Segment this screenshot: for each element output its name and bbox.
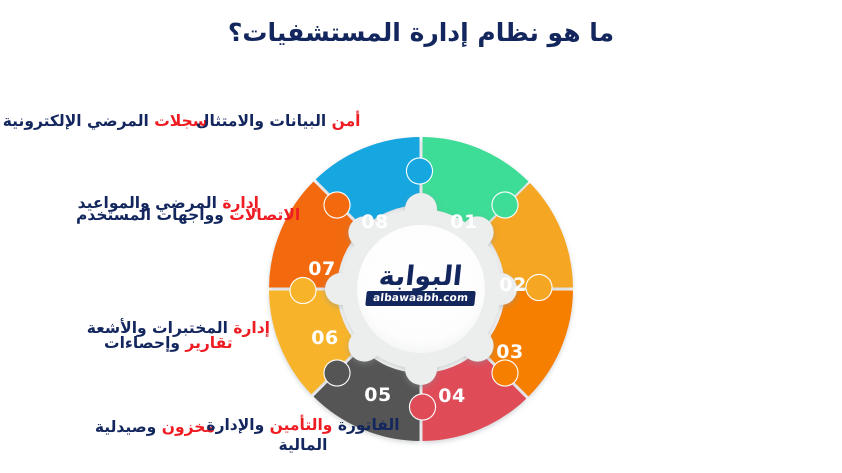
label-08: أمن البيانات والامتثال <box>196 112 360 132</box>
segment-number-05: 05 <box>364 384 391 406</box>
label-08-highlight: أمن <box>332 112 361 130</box>
segment-number-07: 07 <box>308 258 335 280</box>
label-05-pre: الفاتورة <box>332 416 399 434</box>
label-05-highlight: والتأمين <box>270 416 333 434</box>
segment-number-01: 01 <box>450 211 477 233</box>
label-07-highlight: الاتصالات <box>229 206 300 224</box>
label-08-rest: البيانات والامتثال <box>196 112 332 130</box>
segment-number-04: 04 <box>438 385 465 407</box>
page-title: ما هو نظام إدارة المستشفيات؟ <box>0 18 842 47</box>
label-01: سجلات المرضي الإلكترونية <box>3 112 208 132</box>
label-07-rest: وواجهات المستخدم <box>76 206 229 224</box>
puzzle-wheel: 01 02 03 04 05 06 07 08 <box>262 130 580 448</box>
wheel-hub <box>325 193 517 385</box>
segment-number-06: 06 <box>311 327 338 349</box>
segment-number-03: 03 <box>496 341 523 363</box>
label-06-rest: وإحصاءات <box>104 334 185 352</box>
label-01-rest: المرضي الإلكترونية <box>3 112 154 130</box>
label-06-highlight: تقارير <box>185 334 232 352</box>
label-04-rest: وصيدلية <box>95 418 162 436</box>
infographic-page: ما هو نظام إدارة المستشفيات؟ <box>0 0 842 473</box>
segment-number-02: 02 <box>499 274 526 296</box>
label-07: الاتصالات وواجهات المستخدم <box>76 206 300 226</box>
label-03-highlight: إدارة <box>233 319 270 337</box>
segment-number-08: 08 <box>361 211 388 233</box>
label-06: تقارير وإحصاءات <box>104 334 233 354</box>
label-05: الفاتورة والتأمين والإدارة المالية <box>196 416 410 456</box>
